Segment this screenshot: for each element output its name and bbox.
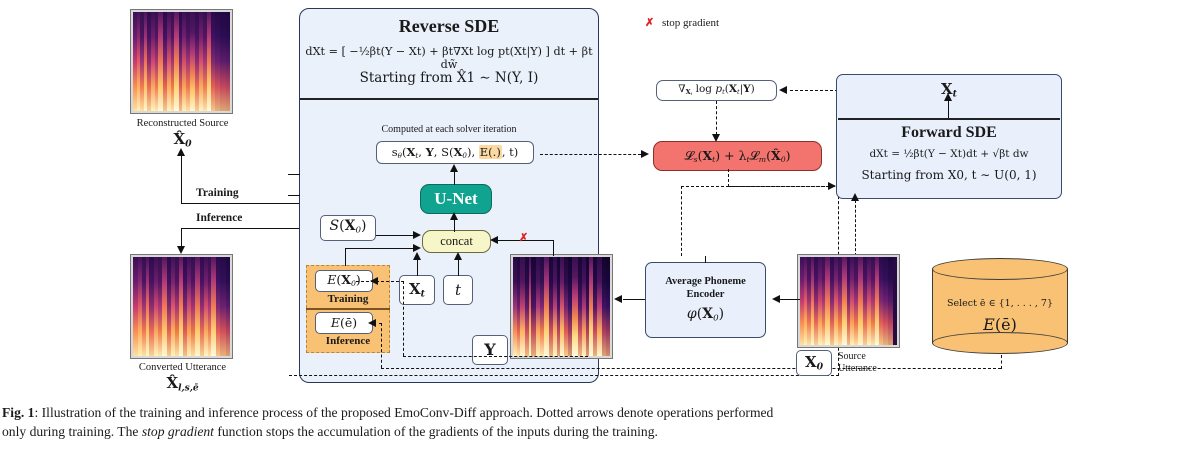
connector-inference-v bbox=[181, 228, 182, 248]
unet-label: U-Net bbox=[434, 189, 477, 209]
connector-loss-vert-down bbox=[681, 186, 682, 256]
phoneme-encoder-block: Average Phoneme Encoder φ(X0) bbox=[645, 262, 766, 338]
connector-inference-dashed-v bbox=[381, 323, 382, 368]
t-label: t bbox=[455, 282, 461, 299]
connector-emotion-up bbox=[345, 248, 346, 266]
reconstructed-source-caption: Reconstructed Source bbox=[105, 118, 260, 129]
connector-loss-down bbox=[728, 169, 729, 187]
concat-label: concat bbox=[440, 234, 473, 249]
emotion-group-divider bbox=[306, 308, 390, 310]
arrowhead-t-to-concat bbox=[454, 252, 462, 260]
score-function-box: sθ(Xt, Y, S(X0), E(.), t) bbox=[376, 141, 534, 164]
caption-line1: : Illustration of the training and infer… bbox=[34, 405, 773, 420]
arrowhead-emotion-to-concat bbox=[413, 244, 421, 252]
emotion-db-embedding-label: E(ē) bbox=[932, 315, 1068, 334]
connector-sx0-to-concat bbox=[376, 235, 414, 236]
connector-inference-h bbox=[181, 228, 299, 229]
cylinder-text: Select ē ∈ {1, . . . , 7} E(ē) bbox=[932, 282, 1068, 334]
arrowhead-sx0-to-concat bbox=[413, 231, 421, 239]
stop-gradient-legend-label: stop gradient bbox=[662, 17, 719, 29]
connector-score-to-loss bbox=[540, 154, 641, 155]
reconstructed-source-spectrogram bbox=[131, 10, 232, 113]
connector-t-to-concat bbox=[458, 260, 459, 276]
arrowhead-loss-to-forward bbox=[828, 182, 836, 190]
emotion-inference-box: E(ē) bbox=[315, 312, 373, 334]
connector-panel-left-2 bbox=[288, 195, 300, 196]
reverse-sde-title: Reverse SDE bbox=[299, 16, 599, 37]
reconstructed-source-symbol: X̂0 bbox=[105, 130, 260, 150]
xt-label: Xt bbox=[409, 281, 425, 300]
reverse-sde-starting-from: Starting from X̂1 ∼ N(Y, I) bbox=[302, 70, 596, 86]
arrowhead-source-to-encoder bbox=[772, 295, 780, 303]
spectrogram-columns bbox=[513, 257, 610, 356]
connector-encoder-top-tick bbox=[705, 256, 706, 263]
score-function-label: sθ(Xt, Y, S(X0), E(.), t) bbox=[392, 146, 518, 160]
caption-line2-a: only during training. The bbox=[2, 424, 142, 439]
connector-panel-left-1 bbox=[288, 174, 300, 175]
arrowhead-y-to-concat bbox=[490, 236, 498, 244]
cylinder-top bbox=[932, 258, 1068, 280]
forward-sde-starting-from: Starting from X0, t ∼ U(0, 1) bbox=[838, 168, 1060, 182]
connector-xt-to-concat bbox=[417, 260, 418, 276]
unet-block: U-Net bbox=[420, 184, 492, 214]
figure-caption: Fig. 1: Illustration of the training and… bbox=[2, 403, 1179, 442]
connector-training-h bbox=[181, 203, 299, 204]
arrowhead-score-node-down bbox=[712, 134, 720, 142]
phoneme-encoder-formula: φ(X0) bbox=[687, 306, 724, 324]
forward-sde-title: Forward SDE bbox=[836, 124, 1062, 142]
arrowhead-source-to-forward bbox=[851, 193, 859, 201]
reverse-sde-divider bbox=[300, 98, 598, 100]
inference-arrow-label: Inference bbox=[196, 212, 242, 224]
stop-gradient-x-icon: ✗ bbox=[645, 17, 654, 29]
solver-iteration-note: Computed at each solver iteration bbox=[302, 124, 596, 135]
spectrogram-columns bbox=[800, 257, 897, 345]
source-caption: Source Utterance bbox=[838, 351, 877, 375]
connector-loss-to-forward bbox=[681, 186, 829, 187]
emotion-inference-label-math: E(ē) bbox=[331, 316, 357, 330]
arrowhead-xt-to-score-node bbox=[779, 86, 787, 94]
phoneme-encoder-line2: Encoder bbox=[687, 288, 725, 301]
source-caption-line1: Source bbox=[838, 351, 877, 363]
score-node-label: ∇Xt log pt(Xt|Y) bbox=[678, 84, 755, 96]
caption-line2-b: function stops the accumulation of the g… bbox=[214, 424, 658, 439]
converted-utterance-spectrogram bbox=[131, 255, 232, 358]
score-node-box: ∇Xt log pt(Xt|Y) bbox=[656, 80, 777, 101]
arrowhead-encoder-to-y bbox=[614, 295, 622, 303]
xt-box: Xt bbox=[399, 275, 435, 305]
connector-y-to-concat-v bbox=[553, 240, 554, 256]
connector-unet-to-score bbox=[454, 172, 455, 185]
y-box: Y bbox=[472, 335, 508, 365]
arrowhead-inference-dashed bbox=[368, 319, 376, 327]
cylinder-bottom bbox=[932, 332, 1068, 354]
arrowhead-inference-down bbox=[177, 246, 185, 254]
reverse-sde-equation: dXt = [ −½βt(Y − Xt) + βt∇Xt log pt(Xt|Y… bbox=[302, 45, 596, 71]
source-utterance-spectrogram bbox=[798, 255, 899, 347]
connector-emotion-dashed-h bbox=[356, 281, 404, 282]
y-spectrogram bbox=[511, 255, 612, 358]
loss-label: 𝓛s(Xt) + λt𝓛m(X̂0) bbox=[684, 148, 790, 164]
concat-block: concat bbox=[422, 230, 491, 253]
source-caption-line2: Utterance bbox=[838, 363, 877, 375]
converted-utterance-caption: Converted Utterance bbox=[105, 362, 260, 373]
spectrogram-columns bbox=[133, 257, 230, 356]
arrowhead-xt-to-concat bbox=[413, 252, 421, 260]
emotion-inference-label: Inference bbox=[306, 335, 390, 347]
connector-emotion-dashed-v bbox=[403, 281, 404, 356]
connector-encoder-to-y bbox=[623, 299, 645, 300]
source-symbol-box: X0 bbox=[796, 350, 832, 376]
connector-recon-dashed-h bbox=[289, 375, 839, 376]
connector-emotion-dashed-bottom bbox=[403, 356, 588, 357]
emotion-training-label: Training bbox=[306, 293, 390, 305]
connector-inference-dashed-bottom bbox=[381, 368, 1001, 369]
phoneme-encoder-line1: Average Phoneme bbox=[665, 275, 746, 288]
forward-sde-divider bbox=[838, 118, 1060, 120]
t-box: t bbox=[443, 275, 473, 305]
arrowhead-forward-xt-up bbox=[944, 93, 952, 101]
arrowhead-emotion-dashed bbox=[370, 277, 378, 285]
connector-emotion-db-dashed-v bbox=[1001, 355, 1002, 369]
caption-figure-number: Fig. 1 bbox=[2, 405, 34, 420]
score-function-highlight: E(.) bbox=[479, 145, 502, 159]
connector-source-to-forward bbox=[855, 200, 856, 256]
arrowhead-recon-up bbox=[177, 148, 185, 156]
forward-sde-equation: dXt = ½βt(Y − Xt)dt + √βt dw bbox=[838, 148, 1060, 160]
caption-stop-gradient-italic: stop gradient bbox=[142, 424, 214, 439]
connector-concat-to-unet bbox=[454, 220, 455, 232]
emotion-database-cylinder: Select ē ∈ {1, . . . , 7} E(ē) bbox=[932, 258, 1068, 354]
connector-forward-xt-up bbox=[948, 100, 949, 118]
arrowhead-concat-to-unet bbox=[450, 212, 458, 220]
source-symbol-label: X0 bbox=[805, 354, 823, 373]
converted-utterance-symbol: X̂l,s,ē bbox=[105, 374, 260, 394]
training-arrow-label: Training bbox=[196, 187, 239, 199]
connector-source-to-encoder bbox=[780, 299, 800, 300]
stop-gradient-x-icon: ✗ bbox=[519, 231, 528, 244]
stop-gradient-legend: ✗ stop gradient bbox=[645, 16, 719, 29]
connector-recon-up bbox=[181, 156, 182, 204]
connector-emotion-to-concat-h bbox=[345, 248, 414, 249]
spectrogram-columns bbox=[133, 12, 230, 111]
loss-block: 𝓛s(Xt) + λt𝓛m(X̂0) bbox=[653, 141, 822, 171]
arrowhead-unet-to-score bbox=[450, 164, 458, 172]
arrowhead-score-to-loss bbox=[641, 150, 649, 158]
emotion-db-select-label: Select ē ∈ {1, . . . , 7} bbox=[932, 298, 1068, 309]
s-x0-label: S(X0) bbox=[330, 219, 367, 236]
s-x0-box: S(X0) bbox=[320, 215, 376, 241]
